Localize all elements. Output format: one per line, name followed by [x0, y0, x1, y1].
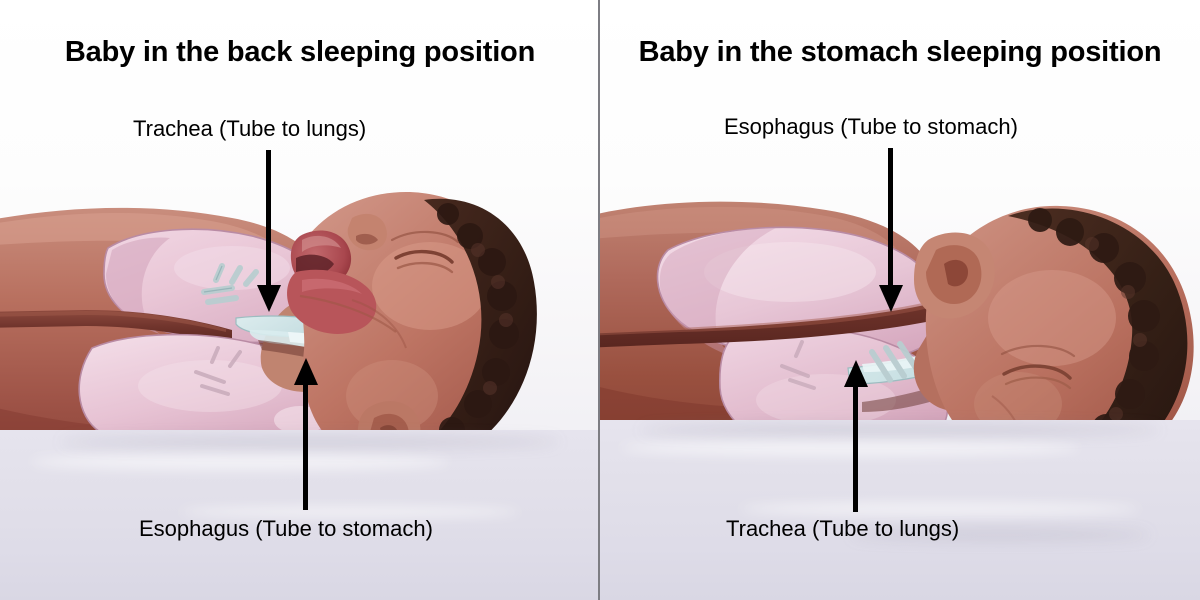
label-trachea: Trachea (Tube to lungs) — [726, 518, 959, 540]
label-esophagus: Esophagus (Tube to stomach) — [139, 518, 433, 540]
arrow-trachea-up — [843, 360, 868, 512]
panel-stomach-sleeping: Baby in the stomach sleeping position Es… — [600, 0, 1200, 600]
panel-back-sleeping: Baby in the back sleeping position Trach… — [0, 0, 600, 600]
label-trachea: Trachea (Tube to lungs) — [133, 118, 366, 140]
panel-title-stomach: Baby in the stomach sleeping position — [600, 38, 1200, 67]
arrow-esophagus-up — [293, 358, 318, 510]
panel-title-back: Baby in the back sleeping position — [0, 38, 600, 67]
panel-divider — [598, 0, 600, 600]
mattress-surface — [600, 420, 1200, 600]
arrow-esophagus-down — [878, 148, 903, 312]
sleep-position-figure: Baby in the back sleeping position Trach… — [0, 0, 1200, 600]
label-esophagus: Esophagus (Tube to stomach) — [724, 116, 1018, 138]
arrow-trachea-down — [256, 150, 281, 312]
